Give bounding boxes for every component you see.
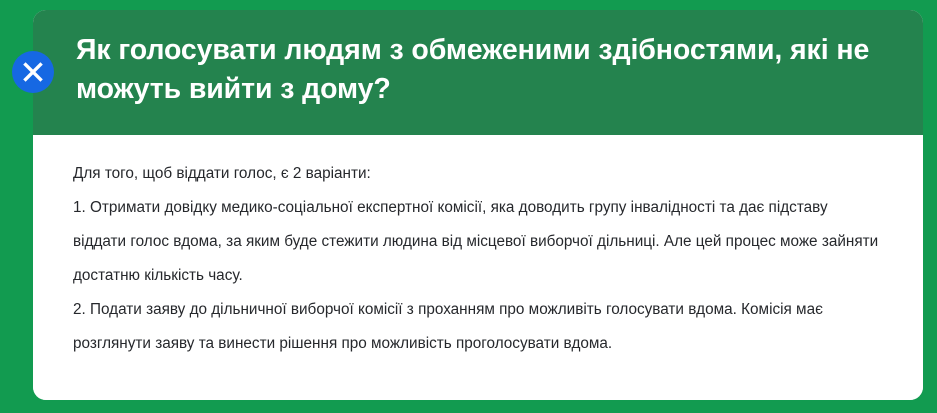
answer-item-2: 2. Подати заяву до дільничної виборчої к… [73, 293, 880, 361]
faq-card-body: Для того, щоб віддати голос, є 2 варіант… [33, 135, 923, 400]
faq-question-title: Як голосувати людям з обмеженими здібнос… [76, 31, 888, 109]
answer-item-1: 1. Отримати довідку медико-соціальної ек… [73, 191, 880, 293]
faq-answer-text: Для того, щоб віддати голос, є 2 варіант… [73, 157, 880, 361]
close-x-icon [12, 51, 54, 93]
faq-card-header: Як голосувати людям з обмеженими здібнос… [33, 10, 923, 135]
faq-card: Як голосувати людям з обмеженими здібнос… [33, 10, 923, 400]
page-root: Як голосувати людям з обмеженими здібнос… [0, 0, 937, 413]
answer-intro-line: Для того, щоб віддати голос, є 2 варіант… [73, 157, 880, 191]
close-button[interactable] [12, 51, 54, 93]
